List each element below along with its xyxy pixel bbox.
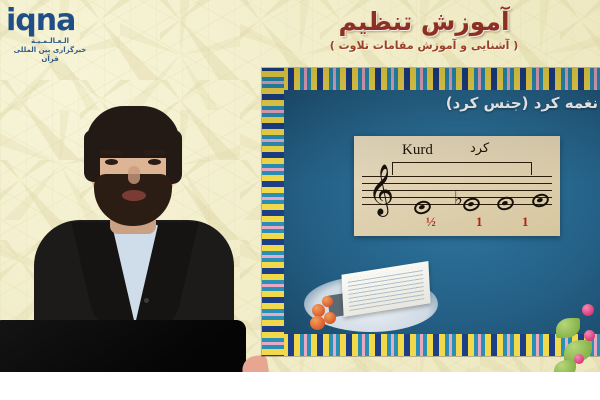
presenter-eyebrow-left xyxy=(100,150,122,155)
note-2 xyxy=(461,196,481,214)
tile-border-bottom xyxy=(262,334,600,356)
logo-wordmark: iqna xyxy=(6,6,94,36)
page-title: آموزش تنظیم xyxy=(294,8,554,36)
book-flower-1 xyxy=(312,304,325,317)
book-flower-2 xyxy=(322,296,333,307)
book-flower-4 xyxy=(324,312,336,324)
tile-border-left xyxy=(262,68,284,356)
slide-panel[interactable]: نغمه کرد (جنس کرد) Kurd کرد 𝄞 ♭ xyxy=(262,68,600,356)
book-text-lines xyxy=(348,267,425,311)
music-staff: 𝄞 ♭ xyxy=(362,176,552,210)
presenter-mouth xyxy=(122,190,146,201)
notation-span-bracket xyxy=(392,162,532,175)
logo-subtext-line2: خبرگزاری بین المللی قرآن xyxy=(6,46,94,64)
presenter-hair-left xyxy=(84,130,100,182)
logo-subtext-line1: الـعـالـمـیـة xyxy=(6,37,94,46)
bottom-white-strip xyxy=(0,372,600,400)
tile-border-top xyxy=(262,68,600,90)
notation-label-en: Kurd xyxy=(402,142,433,159)
header-title-block: آموزش تنظیم ( آشنایی و آموزش مقامات تلاو… xyxy=(294,8,554,52)
book-flower-3 xyxy=(310,316,325,330)
page-subtitle: ( آشنایی و آموزش مقامات تلاوت ) xyxy=(294,39,554,52)
quran-book-illustration xyxy=(310,260,436,336)
slide-heading: نغمه کرد (جنس کرد) xyxy=(298,94,598,112)
note-4-center xyxy=(536,198,543,204)
interval-label-1: ½ xyxy=(426,214,436,230)
leaf-1 xyxy=(556,318,580,338)
screenshot-root: iqna الـعـالـمـیـة خبرگزاری بین المللی ق… xyxy=(0,0,600,400)
presenter-eye-right xyxy=(148,159,161,165)
note-3-center xyxy=(501,201,508,207)
blossom-2 xyxy=(584,330,595,341)
notation-label-fa: کرد xyxy=(470,141,489,156)
iqna-logo[interactable]: iqna الـعـالـمـیـة خبرگزاری بین المللی ق… xyxy=(6,6,94,64)
note-4 xyxy=(530,192,550,210)
note-2-center xyxy=(467,202,474,208)
presenter-nose xyxy=(128,166,140,184)
presenter-eye-left xyxy=(105,159,118,165)
presenter-hair-right xyxy=(166,130,182,184)
logo-subtext: الـعـالـمـیـة خبرگزاری بین المللی قرآن xyxy=(6,37,94,63)
presenter-lapel-mic xyxy=(144,298,149,303)
note-1-center xyxy=(418,205,425,211)
music-notation-card: Kurd کرد 𝄞 ♭ xyxy=(354,136,560,236)
blossom-3 xyxy=(574,354,584,364)
presenter-eyebrow-right xyxy=(144,150,166,155)
treble-clef-icon: 𝄞 xyxy=(368,168,394,212)
interval-label-3: 1 xyxy=(522,214,529,230)
flat-accidental-icon: ♭ xyxy=(454,190,463,209)
blossom-1 xyxy=(582,304,594,316)
book-flowers xyxy=(310,294,350,328)
interval-label-2: 1 xyxy=(476,214,483,230)
